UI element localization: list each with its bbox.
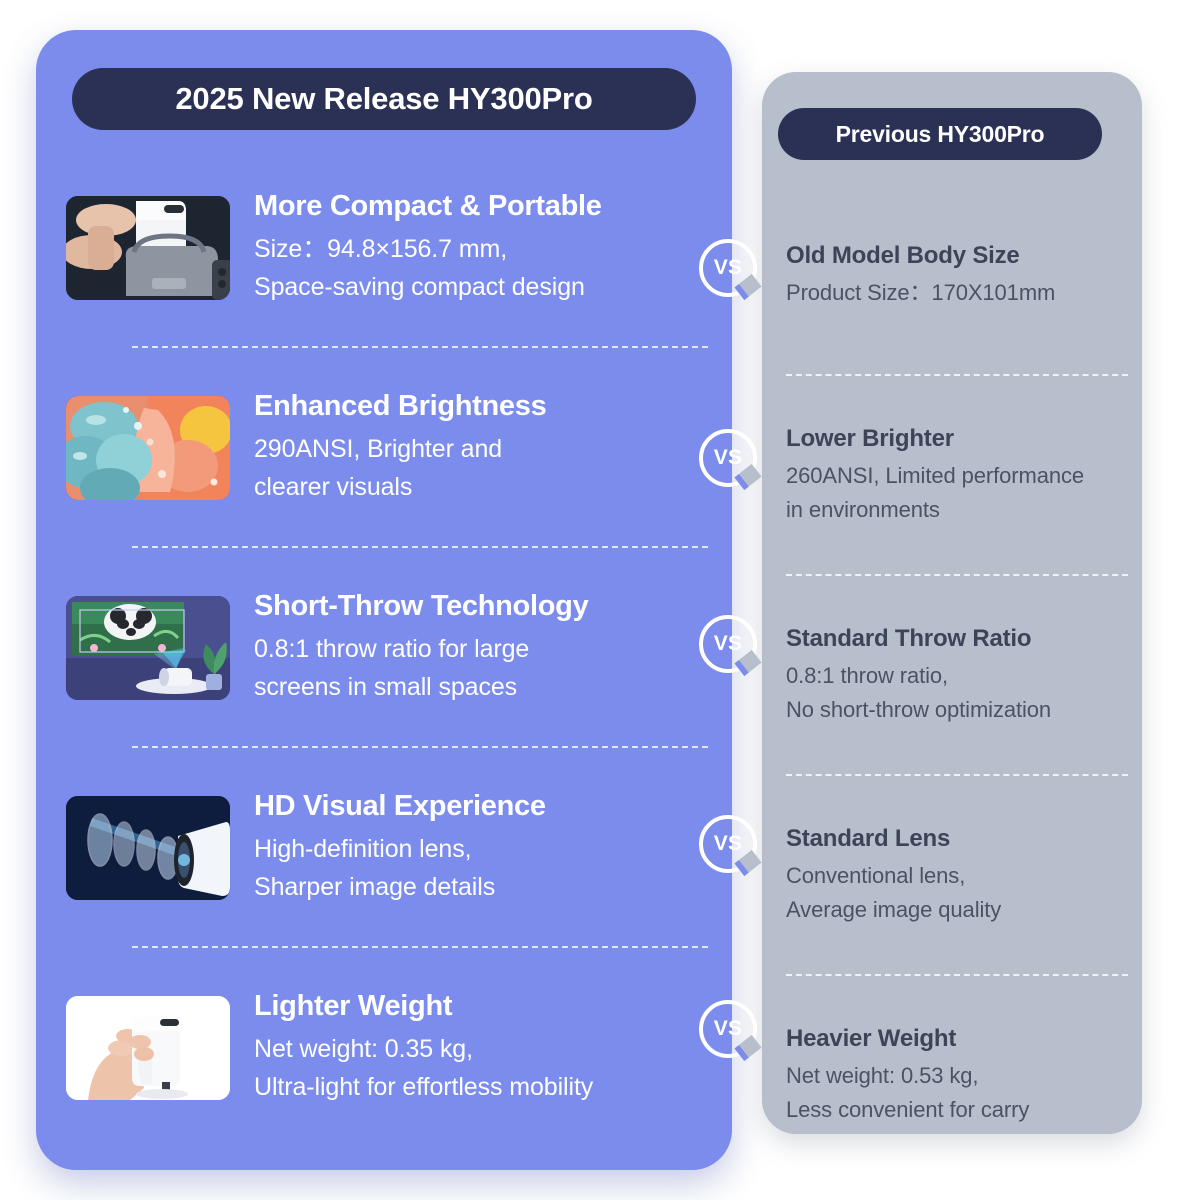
new-feature-title: Enhanced Brightness	[254, 390, 726, 424]
old-row-body-size: Old Model Body Size Product Size：170X101…	[762, 176, 1142, 376]
exploded-lens-icon	[66, 796, 230, 900]
thumbnail-colorful-flowers	[66, 396, 230, 500]
old-row-weight: Heavier Weight Net weight: 0.53 kg, Less…	[762, 976, 1142, 1176]
new-feature-text-block: More Compact & Portable Size：94.8×156.7 …	[254, 190, 732, 306]
new-feature-title: Lighter Weight	[254, 990, 726, 1024]
new-row-hd-lens: HD Visual Experience High-definition len…	[36, 748, 732, 948]
thumbnail-projector-in-backpack	[66, 196, 230, 300]
new-feature-desc-line: Ultra-light for effortless mobility	[254, 1068, 726, 1106]
new-row-short-throw: Short-Throw Technology 0.8:1 throw ratio…	[36, 548, 732, 748]
glossy-flowers-icon	[66, 396, 230, 500]
old-feature-desc-line: No short-throw optimization	[786, 693, 1132, 727]
old-feature-desc-line: Less convenient for carry	[786, 1093, 1132, 1127]
new-release-header-label: 2025 New Release HY300Pro	[175, 81, 592, 117]
new-release-panel: 2025 New Release HY300Pro	[36, 30, 732, 1170]
vs-badge-label: VS	[714, 1017, 743, 1041]
previous-model-header-pill: Previous HY300Pro	[778, 108, 1102, 160]
thumbnail-hand-holding-projector	[66, 996, 230, 1100]
new-feature-desc-line: Net weight: 0.35 kg,	[254, 1030, 726, 1068]
old-feature-desc-line: 0.8:1 throw ratio,	[786, 659, 1132, 693]
new-feature-desc-line: High-definition lens,	[254, 830, 726, 868]
old-feature-desc-line: in environments	[786, 493, 1132, 527]
old-feature-title: Heavier Weight	[786, 1025, 1132, 1054]
old-feature-title: Standard Lens	[786, 825, 1132, 854]
old-feature-desc-line: Product Size：170X101mm	[786, 276, 1132, 310]
new-feature-text-block: HD Visual Experience High-definition len…	[254, 790, 732, 906]
new-feature-title: Short-Throw Technology	[254, 590, 726, 624]
projector-room-scene-icon	[66, 596, 230, 700]
vs-badge-throw-ratio: VS	[699, 615, 757, 673]
vs-badge-weight: VS	[699, 1000, 757, 1058]
vs-badge-label: VS	[714, 446, 743, 470]
new-feature-desc-line: 290ANSI, Brighter and	[254, 430, 726, 468]
thumbnail-room-projection	[66, 596, 230, 700]
new-feature-text-block: Enhanced Brightness 290ANSI, Brighter an…	[254, 390, 732, 506]
vs-badge-compact: VS	[699, 239, 757, 297]
new-feature-text-block: Short-Throw Technology 0.8:1 throw ratio…	[254, 590, 732, 706]
new-feature-desc-line: screens in small spaces	[254, 668, 726, 706]
old-row-brightness: Lower Brighter 260ANSI, Limited performa…	[762, 376, 1142, 576]
new-release-rows: More Compact & Portable Size：94.8×156.7 …	[36, 148, 732, 1148]
old-feature-desc-line: Conventional lens,	[786, 859, 1132, 893]
new-release-header-pill: 2025 New Release HY300Pro	[72, 68, 696, 130]
new-feature-desc-line: clearer visuals	[254, 468, 726, 506]
old-row-throw-ratio: Standard Throw Ratio 0.8:1 throw ratio, …	[762, 576, 1142, 776]
old-feature-title: Old Model Body Size	[786, 242, 1132, 271]
previous-model-header-label: Previous HY300Pro	[836, 121, 1045, 148]
old-feature-title: Standard Throw Ratio	[786, 625, 1132, 654]
hand-holding-projector-icon	[66, 996, 230, 1100]
comparison-infographic: Previous HY300Pro Old Model Body Size Pr…	[0, 0, 1200, 1200]
previous-model-panel: Previous HY300Pro Old Model Body Size Pr…	[762, 72, 1142, 1134]
old-feature-desc-line: 260ANSI, Limited performance	[786, 459, 1132, 493]
new-row-brightness: Enhanced Brightness 290ANSI, Brighter an…	[36, 348, 732, 548]
new-feature-desc-line: Size：94.8×156.7 mm,	[254, 230, 726, 268]
old-row-lens: Standard Lens Conventional lens, Average…	[762, 776, 1142, 976]
vs-badge-label: VS	[714, 832, 743, 856]
vs-badge-brightness: VS	[699, 429, 757, 487]
new-feature-text-block: Lighter Weight Net weight: 0.35 kg, Ultr…	[254, 990, 732, 1106]
old-feature-desc-line: Net weight: 0.53 kg,	[786, 1059, 1132, 1093]
new-feature-title: HD Visual Experience	[254, 790, 726, 824]
new-row-weight: Lighter Weight Net weight: 0.35 kg, Ultr…	[36, 948, 732, 1148]
vs-badge-label: VS	[714, 632, 743, 656]
new-feature-desc-line: Space-saving compact design	[254, 268, 726, 306]
projector-in-backpack-icon	[66, 196, 230, 300]
previous-model-panel-inner: Previous HY300Pro Old Model Body Size Pr…	[762, 72, 1142, 1134]
vs-badge-label: VS	[714, 256, 743, 280]
new-feature-title: More Compact & Portable	[254, 190, 726, 224]
previous-model-rows: Old Model Body Size Product Size：170X101…	[762, 176, 1142, 1176]
vs-badge-lens: VS	[699, 815, 757, 873]
new-feature-desc-line: 0.8:1 throw ratio for large	[254, 630, 726, 668]
thumbnail-lens-elements	[66, 796, 230, 900]
old-feature-desc-line: Average image quality	[786, 893, 1132, 927]
new-feature-desc-line: Sharper image details	[254, 868, 726, 906]
new-row-compact: More Compact & Portable Size：94.8×156.7 …	[36, 148, 732, 348]
old-feature-title: Lower Brighter	[786, 425, 1132, 454]
